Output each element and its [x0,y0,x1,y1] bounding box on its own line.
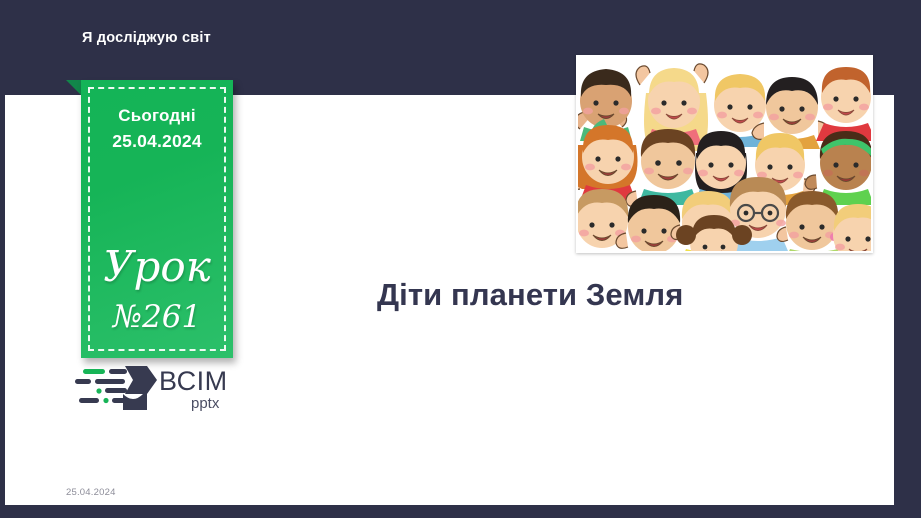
lesson-card-number: №261 [81,302,233,333]
footer-date: 25.04.2024 [66,487,116,498]
card-fold-shadow [66,80,82,96]
graduation-cap-icon [75,360,157,418]
lesson-card-date: 25.04.2024 [81,131,233,152]
vsim-logo: ВСІМ pptx [75,360,245,418]
lesson-card-word: Урок [81,246,233,288]
slide-root: Я досліджую світ 25.04.2024 Сьогодні 25.… [0,0,921,518]
page-title: Діти планети Земля [377,277,683,313]
lesson-card-today-label: Сьогодні [81,106,233,126]
logo-text: ВСІМ pptx [159,368,228,411]
logo-brand: ВСІМ [159,368,228,395]
logo-sub: pptx [191,396,228,411]
subject-title: Я досліджую світ [82,30,211,46]
children-illustration [576,55,873,253]
lesson-card: Сьогодні 25.04.2024 Урок №261 [81,80,233,358]
